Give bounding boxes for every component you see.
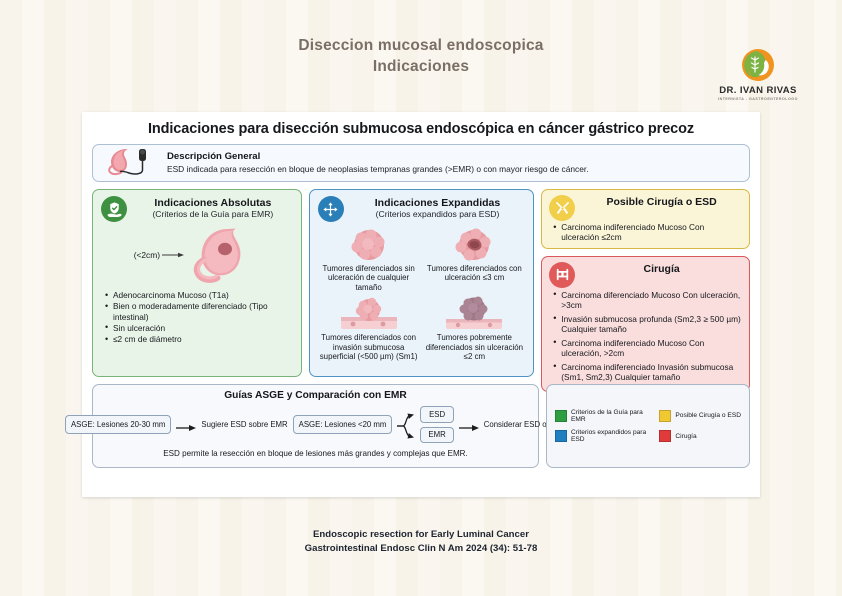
absolute-indications-panel: Indicaciones Absolutas (Criterios de la …: [92, 189, 302, 377]
description-body: ESD indicada para resección en bloque de…: [167, 164, 589, 175]
legend-label: Criterios expandidos para ESD: [571, 429, 651, 444]
tumor-ulcerated-icon: [423, 224, 525, 262]
list-item: Carcinoma indiferenciado Invasión submuc…: [561, 362, 742, 383]
legend-item: Criterios de la Guía para EMR: [555, 409, 651, 424]
brand-logo: DR. IVAN RIVAS INTERNISTA - GASTROENTERO…: [694, 48, 822, 101]
absolute-indications-figure: (<2cm): [101, 224, 293, 286]
expanded-cell-caption: Tumores diferenciados sin ulceración de …: [318, 264, 420, 292]
description-title: Descripción General: [167, 151, 589, 163]
citation-footer: Endoscopic resection for Early Luminal C…: [0, 528, 842, 556]
branch-split-icon: [397, 408, 415, 442]
expanded-cell-caption: Tumores diferenciados con ulceración ≤3 …: [423, 264, 525, 283]
absolute-indications-column: Indicaciones Absolutas (Criterios de la …: [92, 189, 302, 377]
expanded-cell: Tumores diferenciados sin ulceración de …: [318, 224, 420, 292]
asge-box-1: ASGE: Lesiones 20-30 mm: [65, 415, 171, 435]
asge-flow: ASGE: Lesiones 20-30 mm Sugiere ESD sobr…: [101, 406, 530, 443]
possible-surgery-panel: Posible Cirugía o ESD Carcinoma indifere…: [541, 189, 750, 249]
hand-shield-check-icon: [101, 196, 127, 222]
surgery-title: Cirugía: [581, 263, 742, 275]
arrow-right-icon: [459, 420, 479, 430]
list-item: Bien o moderadamente diferenciado (Tipo …: [113, 301, 293, 322]
legend-panel: Criterios de la Guía para EMR Posible Ci…: [546, 384, 750, 468]
crossed-scalpels-icon: [549, 195, 575, 221]
list-item: Adenocarcinoma Mucoso (T1a): [113, 290, 293, 300]
possible-surgery-title: Posible Cirugía o ESD: [581, 196, 742, 208]
operating-table-icon: [549, 262, 575, 288]
possible-surgery-list: Carcinoma indiferenciado Mucoso Con ulce…: [549, 222, 742, 243]
arrow-right-icon: [176, 420, 196, 430]
four-way-arrows-icon: [318, 196, 344, 222]
bottom-row: Guías ASGE y Comparación con EMR ASGE: L…: [92, 384, 750, 468]
brand-name: DR. IVAN RIVAS: [694, 85, 822, 96]
legend-item: Cirugía: [659, 429, 741, 444]
asge-result-1: Sugiere ESD sobre EMR: [201, 420, 287, 430]
legend-label: Criterios de la Guía para EMR: [571, 409, 651, 424]
expanded-indications-title: Indicaciones Expandidas: [350, 197, 526, 209]
tumor-nodule-icon: [318, 224, 420, 262]
legend-swatch-red: [659, 430, 671, 442]
legend-item: Posible Cirugía o ESD: [659, 409, 741, 424]
absolute-indications-list: Adenocarcinoma Mucoso (T1a) Bien o moder…: [101, 290, 293, 344]
asge-panel: Guías ASGE y Comparación con EMR ASGE: L…: [92, 384, 539, 468]
citation-line-1: Endoscopic resection for Early Luminal C…: [0, 528, 842, 542]
surgery-list: Carcinoma diferenciado Mucoso Con ulcera…: [549, 290, 742, 383]
list-item: ≤2 cm de diámetro: [113, 334, 293, 344]
tumor-submucosal-icon: [318, 293, 420, 331]
page-title: Indicaciones para disección submucosa en…: [82, 112, 760, 144]
legend-item: Criterios expandidos para ESD: [555, 429, 651, 444]
lesion-size-label: (<2cm): [134, 250, 160, 260]
brand-subtitle: INTERNISTA - GASTROENTEROLOGO: [694, 97, 822, 101]
list-item: Invasión submucosa profunda (Sm2,3 ≥ 500…: [561, 314, 742, 335]
asge-branches: ESD EMR: [420, 406, 453, 443]
asge-branch-esd: ESD: [420, 406, 453, 423]
criteria-columns: Indicaciones Absolutas (Criterios de la …: [92, 189, 750, 377]
expanded-indications-subtitle: (Criterios expandidos para ESD): [350, 209, 526, 219]
tumor-undifferentiated-icon: [423, 293, 525, 331]
asge-branch-emr: EMR: [420, 427, 453, 444]
stomach-lesion-icon: [184, 225, 260, 285]
list-item: Carcinoma indiferenciado Mucoso Con ulce…: [561, 222, 742, 243]
expanded-cell-caption: Tumores diferenciados con invasión submu…: [318, 333, 420, 361]
expanded-indications-column: Indicaciones Expandidas (Criterios expan…: [309, 189, 535, 377]
expanded-cell-caption: Tumores pobremente diferenciados sin ulc…: [423, 333, 525, 361]
legend-swatch-green: [555, 410, 567, 422]
legend-label: Posible Cirugía o ESD: [675, 412, 741, 419]
asge-note: ESD permite la resección en bloque de le…: [101, 449, 530, 458]
citation-line-2: Gastrointestinal Endosc Clin N Am 2024 (…: [0, 542, 842, 556]
list-item: Carcinoma indiferenciado Mucoso Con ulce…: [561, 338, 742, 359]
stomach-leaf-logo-icon: [741, 48, 775, 82]
expanded-indications-panel: Indicaciones Expandidas (Criterios expan…: [309, 189, 535, 377]
surgery-panel: Cirugía Carcinoma diferenciado Mucoso Co…: [541, 256, 750, 392]
absolute-indications-subtitle: (Criterios de la Guía para EMR): [133, 209, 293, 219]
stomach-endoscope-icon: [103, 146, 159, 181]
list-item: Carcinoma diferenciado Mucoso Con ulcera…: [561, 290, 742, 311]
expanded-indications-grid: Tumores diferenciados sin ulceración de …: [318, 224, 526, 362]
legend-swatch-blue: [555, 430, 567, 442]
legend-swatch-yellow: [659, 410, 671, 422]
infographic-card: Indicaciones para disección submucosa en…: [82, 112, 760, 497]
expanded-cell: Tumores diferenciados con invasión submu…: [318, 293, 420, 361]
description-panel: Descripción General ESD indicada para re…: [92, 144, 750, 182]
expanded-cell: Tumores diferenciados con ulceración ≤3 …: [423, 224, 525, 292]
legend-label: Cirugía: [675, 433, 696, 440]
surgery-column: Posible Cirugía o ESD Carcinoma indifere…: [541, 189, 750, 377]
absolute-indications-title: Indicaciones Absolutas: [133, 197, 293, 209]
expanded-cell: Tumores pobremente diferenciados sin ulc…: [423, 293, 525, 361]
list-item: Sin ulceración: [113, 323, 293, 333]
asge-title: Guías ASGE y Comparación con EMR: [101, 390, 530, 401]
asge-box-2: ASGE: Lesiones <20 mm: [293, 415, 393, 435]
pointer-line-icon: [162, 251, 184, 259]
